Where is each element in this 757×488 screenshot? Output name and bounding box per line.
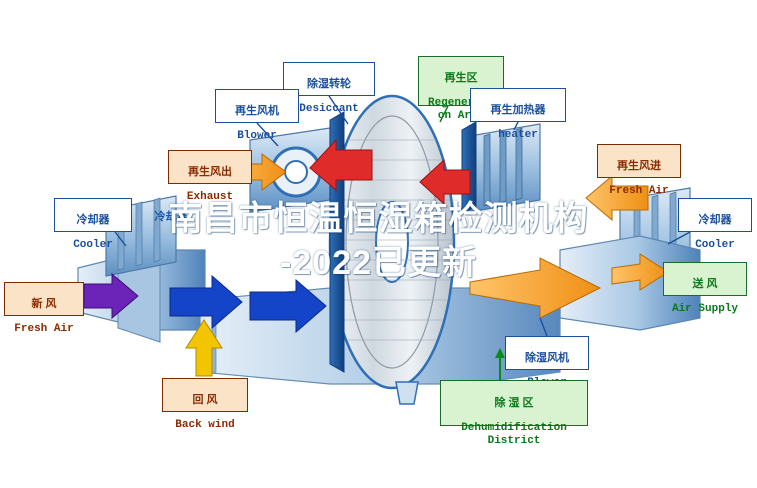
label-regeneration-blower-cn: 再生风机 [216,105,298,118]
label-back-wind-en: Back wind [163,419,247,432]
label-cooler-right-en: Cooler [679,239,751,252]
label-fresh-air-inlet-en: Fresh Air [5,323,83,336]
label-regeneration-exhaust: 再生风出 Exhaust [168,150,252,184]
label-regeneration-exhaust-cn: 再生风出 [169,166,251,179]
label-regeneration-heater-en: heater [471,129,565,142]
label-cooler-right: 冷却器 Cooler [678,198,752,232]
label-regeneration-blower-en: Blower [216,130,298,143]
label-regeneration-fresh-air-en: Fresh Air [598,185,680,198]
label-air-supply-cn: 送 风 [664,278,746,291]
label-back-wind: 回 风 Back wind [162,378,248,412]
label-dehumidification-blower: 除湿风机 Blower [505,336,589,370]
label-dehumidification-district-en: Dehumidification District [441,422,587,447]
label-dehumidification-blower-cn: 除湿风机 [506,352,588,365]
label-regeneration-fresh-air: 再生风进 Fresh Air [597,144,681,178]
label-dehumidification-district-cn: 除 湿 区 [441,397,587,410]
label-cooler-left-cn: 冷却器 [55,214,131,227]
diagram-screenshot: 除湿转轮 Desiccant 再生区 Regenerati on Area 再生… [0,0,757,488]
label-regeneration-blower: 再生风机 Blower [215,89,299,123]
label-back-wind-cn: 回 风 [163,394,247,407]
label-air-supply: 送 风 Air Supply [663,262,747,296]
label-regeneration-heater: 再生加热器 heater [470,88,566,122]
label-cooler-left-en: Cooler [55,239,131,252]
label-fresh-air-inlet: 新 风 Fresh Air [4,282,84,316]
label-cooler-center-cn: 冷却器 [140,211,202,224]
label-regeneration-fresh-air-cn: 再生风进 [598,160,680,173]
label-cooler-right-cn: 冷却器 [679,214,751,227]
label-regeneration-area-cn: 再生区 [419,72,503,85]
label-cooler-left: 冷却器 Cooler [54,198,132,232]
label-dehumidification-district: 除 湿 区 Dehumidification District [440,380,588,426]
label-fresh-air-inlet-cn: 新 风 [5,298,83,311]
label-air-supply-en: Air Supply [664,303,746,316]
label-regeneration-heater-cn: 再生加热器 [471,104,565,117]
label-cooler-center: 冷却器 [140,198,202,216]
